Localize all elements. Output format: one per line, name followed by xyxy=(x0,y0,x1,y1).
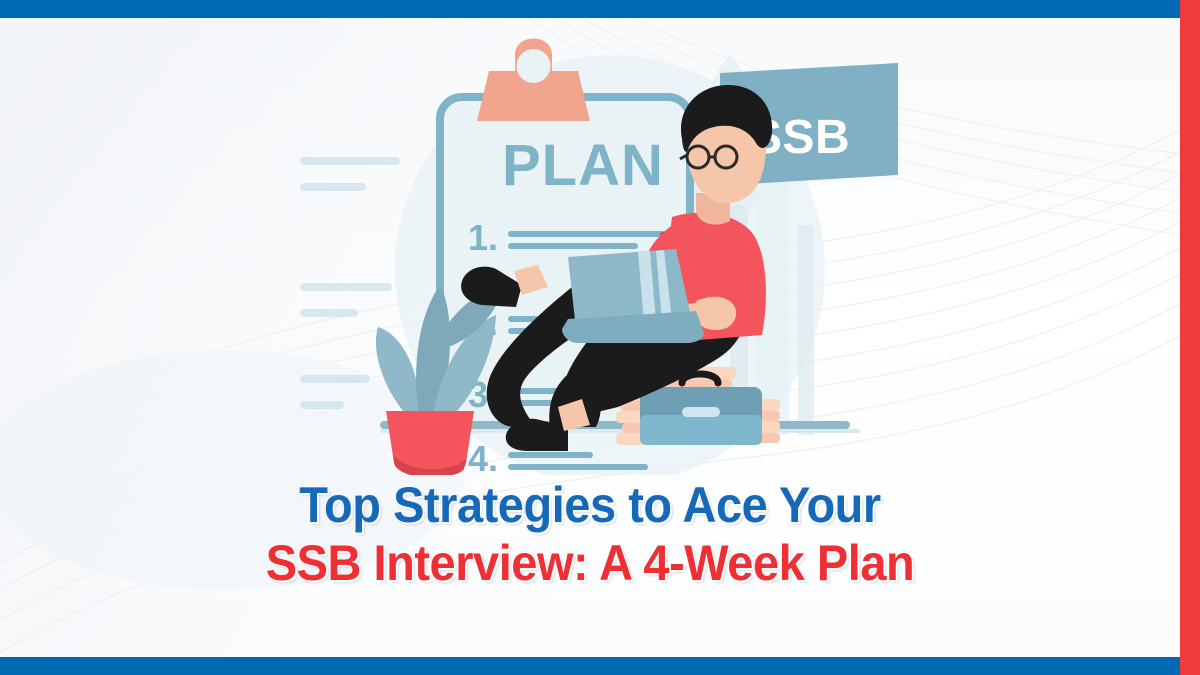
headline-line-1: Top Strategies to Ace Your xyxy=(35,480,1144,530)
svg-text:4.: 4. xyxy=(468,438,498,475)
banner-root: PLAN 1. 2. 3. 4. xyxy=(0,0,1200,675)
clipboard-title: PLAN xyxy=(502,133,664,198)
hero-illustration: PLAN 1. 2. 3. 4. xyxy=(300,35,900,475)
clipboard-clip xyxy=(477,39,590,122)
top-blue-bar xyxy=(0,0,1200,18)
right-red-bar xyxy=(1180,0,1200,675)
headline-block: Top Strategies to Ace Your SSB Interview… xyxy=(0,480,1180,588)
headline-line-2: SSB Interview: A 4-Week Plan xyxy=(35,538,1144,588)
svg-text:1.: 1. xyxy=(468,217,498,258)
bottom-blue-bar xyxy=(0,657,1200,675)
